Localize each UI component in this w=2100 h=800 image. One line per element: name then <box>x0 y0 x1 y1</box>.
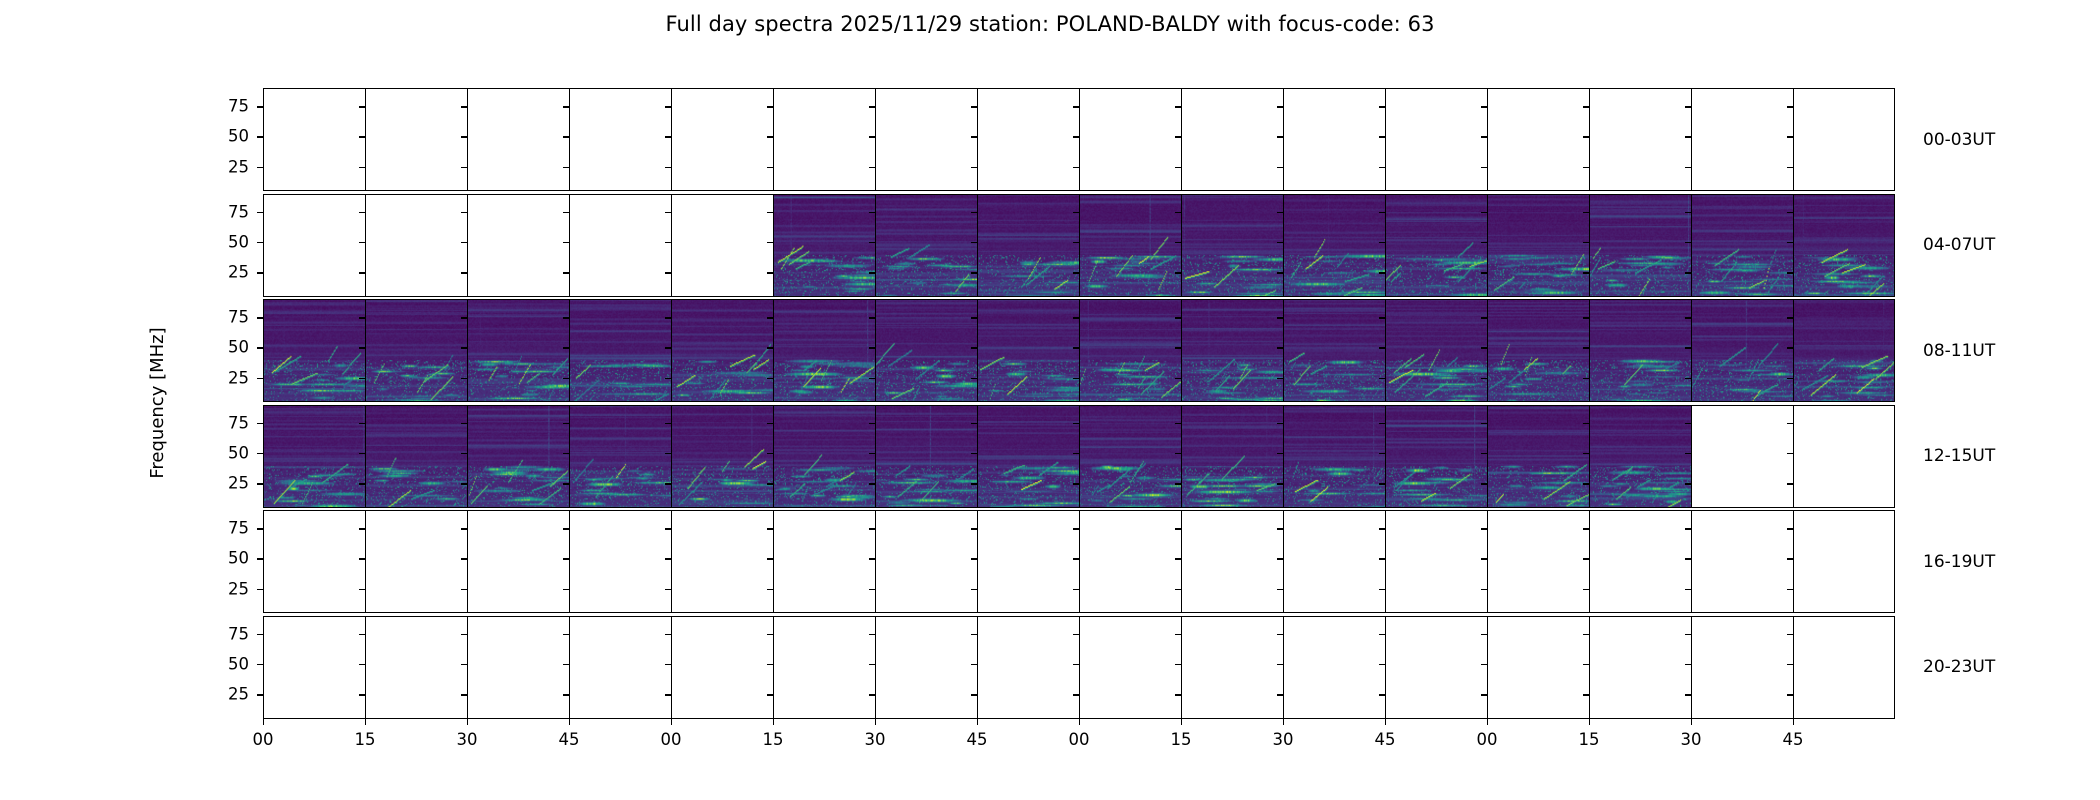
x-tick-label: 30 <box>1681 730 1702 749</box>
panel-separator <box>467 299 468 402</box>
y-tick-mark <box>665 558 671 559</box>
y-tick-mark <box>563 272 569 273</box>
y-tick-mark <box>1277 212 1283 213</box>
x-tick-label: 45 <box>559 730 580 749</box>
y-tick-mark <box>563 378 569 379</box>
x-tick-label: 30 <box>865 730 886 749</box>
y-tick-mark <box>1277 483 1283 484</box>
panel-separator <box>467 405 468 508</box>
panel-separator <box>365 616 366 719</box>
y-tick-mark <box>1583 212 1589 213</box>
spectrogram-panel <box>1181 616 1283 719</box>
spectrogram-image <box>1283 194 1385 297</box>
panel-separator <box>1793 616 1794 719</box>
y-tick-mark <box>665 167 671 168</box>
y-tick-mark <box>971 106 977 107</box>
y-tick-mark <box>359 242 365 243</box>
row-label-20-23ut: 20-23UT <box>1923 657 1995 677</box>
y-tick-mark <box>461 347 467 348</box>
y-tick-mark <box>767 589 773 590</box>
spectrogram-image <box>1181 405 1283 508</box>
y-tick-mark <box>257 317 263 318</box>
y-tick-mark <box>1379 558 1385 559</box>
y-tick-mark <box>359 528 365 529</box>
panel-separator <box>1793 510 1794 613</box>
y-tick-mark <box>1277 378 1283 379</box>
x-tick-label: 15 <box>763 730 784 749</box>
y-tick-mark <box>359 558 365 559</box>
x-tick-label: 30 <box>457 730 478 749</box>
panel-separator <box>365 88 366 191</box>
y-tick-mark <box>1583 167 1589 168</box>
figure-canvas: Full day spectra 2025/11/29 station: POL… <box>0 0 2100 800</box>
x-tick-mark <box>875 719 876 725</box>
y-tick-mark <box>257 589 263 590</box>
y-tick-mark <box>1583 347 1589 348</box>
y-tick-mark <box>563 423 569 424</box>
y-tick-mark <box>461 634 467 635</box>
spectrogram-image <box>671 405 773 508</box>
y-tick-mark <box>359 664 365 665</box>
y-tick-mark <box>563 136 569 137</box>
y-tick-mark <box>257 167 263 168</box>
spectrogram-image <box>1079 405 1181 508</box>
spectrogram-panel <box>1283 299 1385 402</box>
x-tick-label: 00 <box>661 730 682 749</box>
y-tick-mark <box>461 694 467 695</box>
y-tick-mark <box>971 634 977 635</box>
y-tick-mark <box>971 694 977 695</box>
y-tick-mark <box>1175 136 1181 137</box>
panel-separator <box>1793 405 1794 508</box>
panel-separator <box>365 299 366 402</box>
spectrogram-image <box>977 405 1079 508</box>
x-tick-mark <box>977 719 978 725</box>
y-tick-mark <box>1379 694 1385 695</box>
spectrogram-panel <box>1793 88 1895 191</box>
y-tick-mark <box>1583 558 1589 559</box>
figure-title: Full day spectra 2025/11/29 station: POL… <box>0 12 2100 36</box>
y-tick-mark <box>563 558 569 559</box>
y-tick-mark <box>1175 272 1181 273</box>
y-tick-mark <box>1073 528 1079 529</box>
spectrogram-panel <box>263 510 365 613</box>
y-tick-mark <box>971 453 977 454</box>
spectrogram-panel <box>1283 616 1385 719</box>
y-tick-mark <box>1685 136 1691 137</box>
row-label-08-11ut: 08-11UT <box>1923 341 1995 361</box>
y-tick-mark <box>1175 483 1181 484</box>
y-tick-mark <box>1685 167 1691 168</box>
panel-separator <box>1385 405 1386 508</box>
panel-separator <box>773 88 774 191</box>
panel-separator <box>1691 405 1692 508</box>
y-tick-mark <box>1787 558 1793 559</box>
y-tick-mark <box>1685 242 1691 243</box>
panel-separator <box>1385 616 1386 719</box>
y-tick-mark <box>461 483 467 484</box>
row-label-12-15ut: 12-15UT <box>1923 446 1995 466</box>
spectrogram-panel <box>365 616 467 719</box>
y-tick-mark <box>767 664 773 665</box>
y-tick-mark <box>767 167 773 168</box>
spectrogram-panel <box>1793 405 1895 508</box>
y-tick-label: 25 <box>209 685 249 704</box>
spectrogram-panel <box>671 510 773 613</box>
y-tick-mark <box>1073 272 1079 273</box>
spectrogram-panel <box>773 194 875 297</box>
spectrogram-image <box>671 299 773 402</box>
spectrogram-panel <box>1691 88 1793 191</box>
y-tick-mark <box>257 136 263 137</box>
panel-separator <box>773 616 774 719</box>
spectrogram-image <box>569 405 671 508</box>
panel-separator <box>875 88 876 191</box>
y-tick-mark <box>1583 242 1589 243</box>
spectrogram-image <box>1589 405 1691 508</box>
spectrogram-panel <box>1283 510 1385 613</box>
panel-separator <box>773 194 774 297</box>
spectrogram-panel <box>875 510 977 613</box>
y-tick-mark <box>359 634 365 635</box>
y-tick-mark <box>869 664 875 665</box>
y-tick-mark <box>1277 528 1283 529</box>
spectrogram-image <box>1181 299 1283 402</box>
y-tick-mark <box>1583 483 1589 484</box>
panel-separator <box>977 616 978 719</box>
panel-separator <box>773 299 774 402</box>
spectrogram-panel <box>671 299 773 402</box>
y-tick-mark <box>461 423 467 424</box>
panel-separator <box>671 194 672 297</box>
y-tick-mark <box>1073 378 1079 379</box>
y-tick-mark <box>665 106 671 107</box>
y-tick-mark <box>665 634 671 635</box>
spectrogram-panel <box>263 616 365 719</box>
y-tick-mark <box>665 212 671 213</box>
panel-separator <box>977 299 978 402</box>
x-tick-mark <box>1589 719 1590 725</box>
spectrogram-panel <box>1589 616 1691 719</box>
y-tick-mark <box>767 106 773 107</box>
y-tick-mark <box>563 242 569 243</box>
spectrogram-image <box>1283 405 1385 508</box>
y-tick-mark <box>1685 558 1691 559</box>
y-tick-mark <box>1481 634 1487 635</box>
y-tick-mark <box>1787 423 1793 424</box>
spectrogram-row-08-11ut <box>263 299 1895 402</box>
spectrogram-panel <box>1589 88 1691 191</box>
y-tick-mark <box>1685 423 1691 424</box>
spectrogram-image <box>569 299 671 402</box>
y-tick-mark <box>1379 634 1385 635</box>
spectrogram-panel <box>1283 88 1385 191</box>
spectrogram-panel <box>1079 194 1181 297</box>
y-tick-mark <box>359 378 365 379</box>
y-tick-mark <box>359 694 365 695</box>
x-tick-mark <box>467 719 468 725</box>
spectrogram-panel <box>1385 510 1487 613</box>
spectrogram-panel <box>365 405 467 508</box>
spectrogram-panel <box>1487 194 1589 297</box>
spectrogram-panel <box>773 616 875 719</box>
y-tick-mark <box>1277 694 1283 695</box>
y-tick-label: 75 <box>209 97 249 116</box>
panel-separator <box>1181 194 1182 297</box>
y-tick-mark <box>1175 106 1181 107</box>
panel-separator <box>1283 616 1284 719</box>
spectrogram-image <box>1691 299 1793 402</box>
x-tick-mark <box>1691 719 1692 725</box>
y-tick-mark <box>257 664 263 665</box>
y-tick-mark <box>1073 212 1079 213</box>
y-tick-mark <box>1073 242 1079 243</box>
panel-separator <box>875 299 876 402</box>
spectrogram-image <box>1589 194 1691 297</box>
y-tick-mark <box>1481 136 1487 137</box>
y-tick-mark <box>767 272 773 273</box>
y-tick-mark <box>1175 694 1181 695</box>
y-tick-mark <box>1277 317 1283 318</box>
y-tick-mark <box>1379 378 1385 379</box>
y-tick-mark <box>1481 528 1487 529</box>
spectrogram-panel <box>1385 616 1487 719</box>
y-tick-mark <box>869 528 875 529</box>
y-tick-label: 50 <box>209 338 249 357</box>
panel-separator <box>1691 510 1692 613</box>
panel-separator <box>467 616 468 719</box>
y-tick-mark <box>1175 453 1181 454</box>
x-tick-mark <box>569 719 570 725</box>
y-tick-mark <box>359 423 365 424</box>
y-tick-label: 25 <box>209 157 249 176</box>
spectrogram-panel <box>977 88 1079 191</box>
spectrogram-image <box>875 299 977 402</box>
y-tick-mark <box>869 483 875 484</box>
y-tick-mark <box>1583 106 1589 107</box>
panel-separator <box>1691 616 1692 719</box>
y-tick-mark <box>359 212 365 213</box>
y-tick-mark <box>767 136 773 137</box>
y-tick-mark <box>767 378 773 379</box>
y-tick-mark <box>461 272 467 273</box>
panel-separator <box>977 510 978 613</box>
spectrogram-panel <box>977 510 1079 613</box>
y-tick-mark <box>1787 106 1793 107</box>
y-tick-mark <box>563 167 569 168</box>
y-tick-label: 75 <box>209 202 249 221</box>
spectrogram-panel <box>1079 510 1181 613</box>
panel-separator <box>1283 405 1284 508</box>
y-tick-mark <box>869 136 875 137</box>
y-tick-mark <box>1481 483 1487 484</box>
spectrogram-image <box>773 194 875 297</box>
x-tick-mark <box>1283 719 1284 725</box>
panel-separator <box>1487 616 1488 719</box>
x-tick-mark <box>1181 719 1182 725</box>
spectrogram-panel <box>671 194 773 297</box>
panel-separator <box>1283 194 1284 297</box>
y-tick-mark <box>971 272 977 273</box>
y-tick-mark <box>1787 347 1793 348</box>
spectrogram-panel <box>1385 299 1487 402</box>
y-tick-mark <box>665 589 671 590</box>
panel-separator <box>569 299 570 402</box>
spectrogram-image <box>1691 194 1793 297</box>
panel-separator <box>365 405 366 508</box>
panel-separator <box>1181 299 1182 402</box>
y-tick-mark <box>665 317 671 318</box>
y-tick-mark <box>359 589 365 590</box>
y-tick-mark <box>1583 528 1589 529</box>
panel-separator <box>875 616 876 719</box>
y-tick-mark <box>1787 242 1793 243</box>
spectrogram-image <box>773 299 875 402</box>
spectrogram-panel <box>1181 510 1283 613</box>
spectrogram-panel <box>1181 299 1283 402</box>
y-tick-mark <box>257 106 263 107</box>
y-tick-mark <box>1685 317 1691 318</box>
y-tick-label: 25 <box>209 263 249 282</box>
panel-separator <box>671 510 672 613</box>
spectrogram-image <box>1079 194 1181 297</box>
y-tick-mark <box>1685 347 1691 348</box>
y-tick-mark <box>1481 589 1487 590</box>
x-tick-mark <box>1079 719 1080 725</box>
y-tick-mark <box>869 347 875 348</box>
y-tick-mark <box>665 453 671 454</box>
y-tick-label: 75 <box>209 308 249 327</box>
y-tick-mark <box>1379 483 1385 484</box>
spectrogram-panel <box>977 616 1079 719</box>
y-tick-mark <box>1583 317 1589 318</box>
spectrogram-panel <box>1181 194 1283 297</box>
spectrogram-panel <box>1487 299 1589 402</box>
y-tick-mark <box>665 347 671 348</box>
y-tick-mark <box>1073 423 1079 424</box>
spectrogram-image <box>1589 299 1691 402</box>
spectrogram-row-20-23ut <box>263 616 1895 719</box>
spectrogram-panel <box>1589 194 1691 297</box>
y-tick-mark <box>1685 106 1691 107</box>
spectrogram-image <box>467 299 569 402</box>
x-tick-mark <box>1793 719 1794 725</box>
y-tick-mark <box>971 378 977 379</box>
spectrogram-image <box>1283 299 1385 402</box>
spectrogram-panel <box>671 616 773 719</box>
y-tick-mark <box>1583 634 1589 635</box>
panel-separator <box>1079 510 1080 613</box>
spectrogram-panel <box>1793 616 1895 719</box>
spectrogram-panel <box>1079 405 1181 508</box>
y-tick-mark <box>971 423 977 424</box>
y-tick-mark <box>665 378 671 379</box>
panel-separator <box>467 194 468 297</box>
y-tick-mark <box>359 167 365 168</box>
spectrogram-image <box>1487 194 1589 297</box>
panel-separator <box>875 510 876 613</box>
spectrogram-panel <box>671 88 773 191</box>
y-tick-mark <box>563 694 569 695</box>
y-tick-mark <box>869 589 875 590</box>
y-tick-mark <box>1481 453 1487 454</box>
spectrogram-image <box>1793 299 1895 402</box>
y-tick-mark <box>461 106 467 107</box>
y-tick-mark <box>1175 378 1181 379</box>
y-tick-mark <box>1379 589 1385 590</box>
spectrogram-image <box>365 299 467 402</box>
y-tick-mark <box>1481 378 1487 379</box>
y-tick-mark <box>1685 664 1691 665</box>
y-tick-mark <box>1481 423 1487 424</box>
panel-separator <box>1385 194 1386 297</box>
y-tick-mark <box>1277 347 1283 348</box>
y-tick-mark <box>665 664 671 665</box>
spectrogram-panel <box>467 616 569 719</box>
y-tick-mark <box>257 483 263 484</box>
x-tick-mark <box>1487 719 1488 725</box>
y-tick-mark <box>257 453 263 454</box>
y-tick-mark <box>1583 664 1589 665</box>
y-tick-mark <box>359 453 365 454</box>
y-tick-mark <box>1175 423 1181 424</box>
y-tick-mark <box>1481 272 1487 273</box>
y-tick-mark <box>1277 167 1283 168</box>
y-tick-mark <box>1379 664 1385 665</box>
y-tick-mark <box>1685 694 1691 695</box>
y-tick-mark <box>359 136 365 137</box>
y-tick-mark <box>461 558 467 559</box>
spectrogram-panel <box>1079 299 1181 402</box>
panel-separator <box>1487 299 1488 402</box>
panel-separator <box>1487 194 1488 297</box>
y-tick-mark <box>1277 242 1283 243</box>
spectrogram-panel <box>1181 405 1283 508</box>
y-tick-mark <box>257 423 263 424</box>
y-tick-mark <box>563 664 569 665</box>
y-tick-mark <box>971 483 977 484</box>
y-tick-mark <box>1787 664 1793 665</box>
panel-separator <box>365 194 366 297</box>
y-tick-mark <box>767 453 773 454</box>
x-tick-label: 15 <box>355 730 376 749</box>
y-tick-mark <box>461 242 467 243</box>
spectrogram-panel <box>569 510 671 613</box>
y-tick-mark <box>869 317 875 318</box>
spectrogram-panel <box>569 405 671 508</box>
y-tick-mark <box>1175 347 1181 348</box>
y-tick-mark <box>869 694 875 695</box>
panel-separator <box>569 88 570 191</box>
y-tick-mark <box>1787 694 1793 695</box>
spectrogram-panel <box>1589 510 1691 613</box>
y-tick-mark <box>1787 589 1793 590</box>
y-tick-mark <box>767 528 773 529</box>
y-tick-mark <box>1481 242 1487 243</box>
spectrogram-panel <box>875 299 977 402</box>
spectrogram-image <box>1385 194 1487 297</box>
panel-separator <box>1793 299 1794 402</box>
spectrogram-panel <box>263 194 365 297</box>
row-label-16-19ut: 16-19UT <box>1923 552 1995 572</box>
y-tick-mark <box>1583 378 1589 379</box>
panel-separator <box>1691 194 1692 297</box>
y-tick-mark <box>1379 528 1385 529</box>
y-tick-mark <box>971 664 977 665</box>
y-tick-mark <box>1583 694 1589 695</box>
y-tick-mark <box>1685 453 1691 454</box>
panel-separator <box>569 405 570 508</box>
